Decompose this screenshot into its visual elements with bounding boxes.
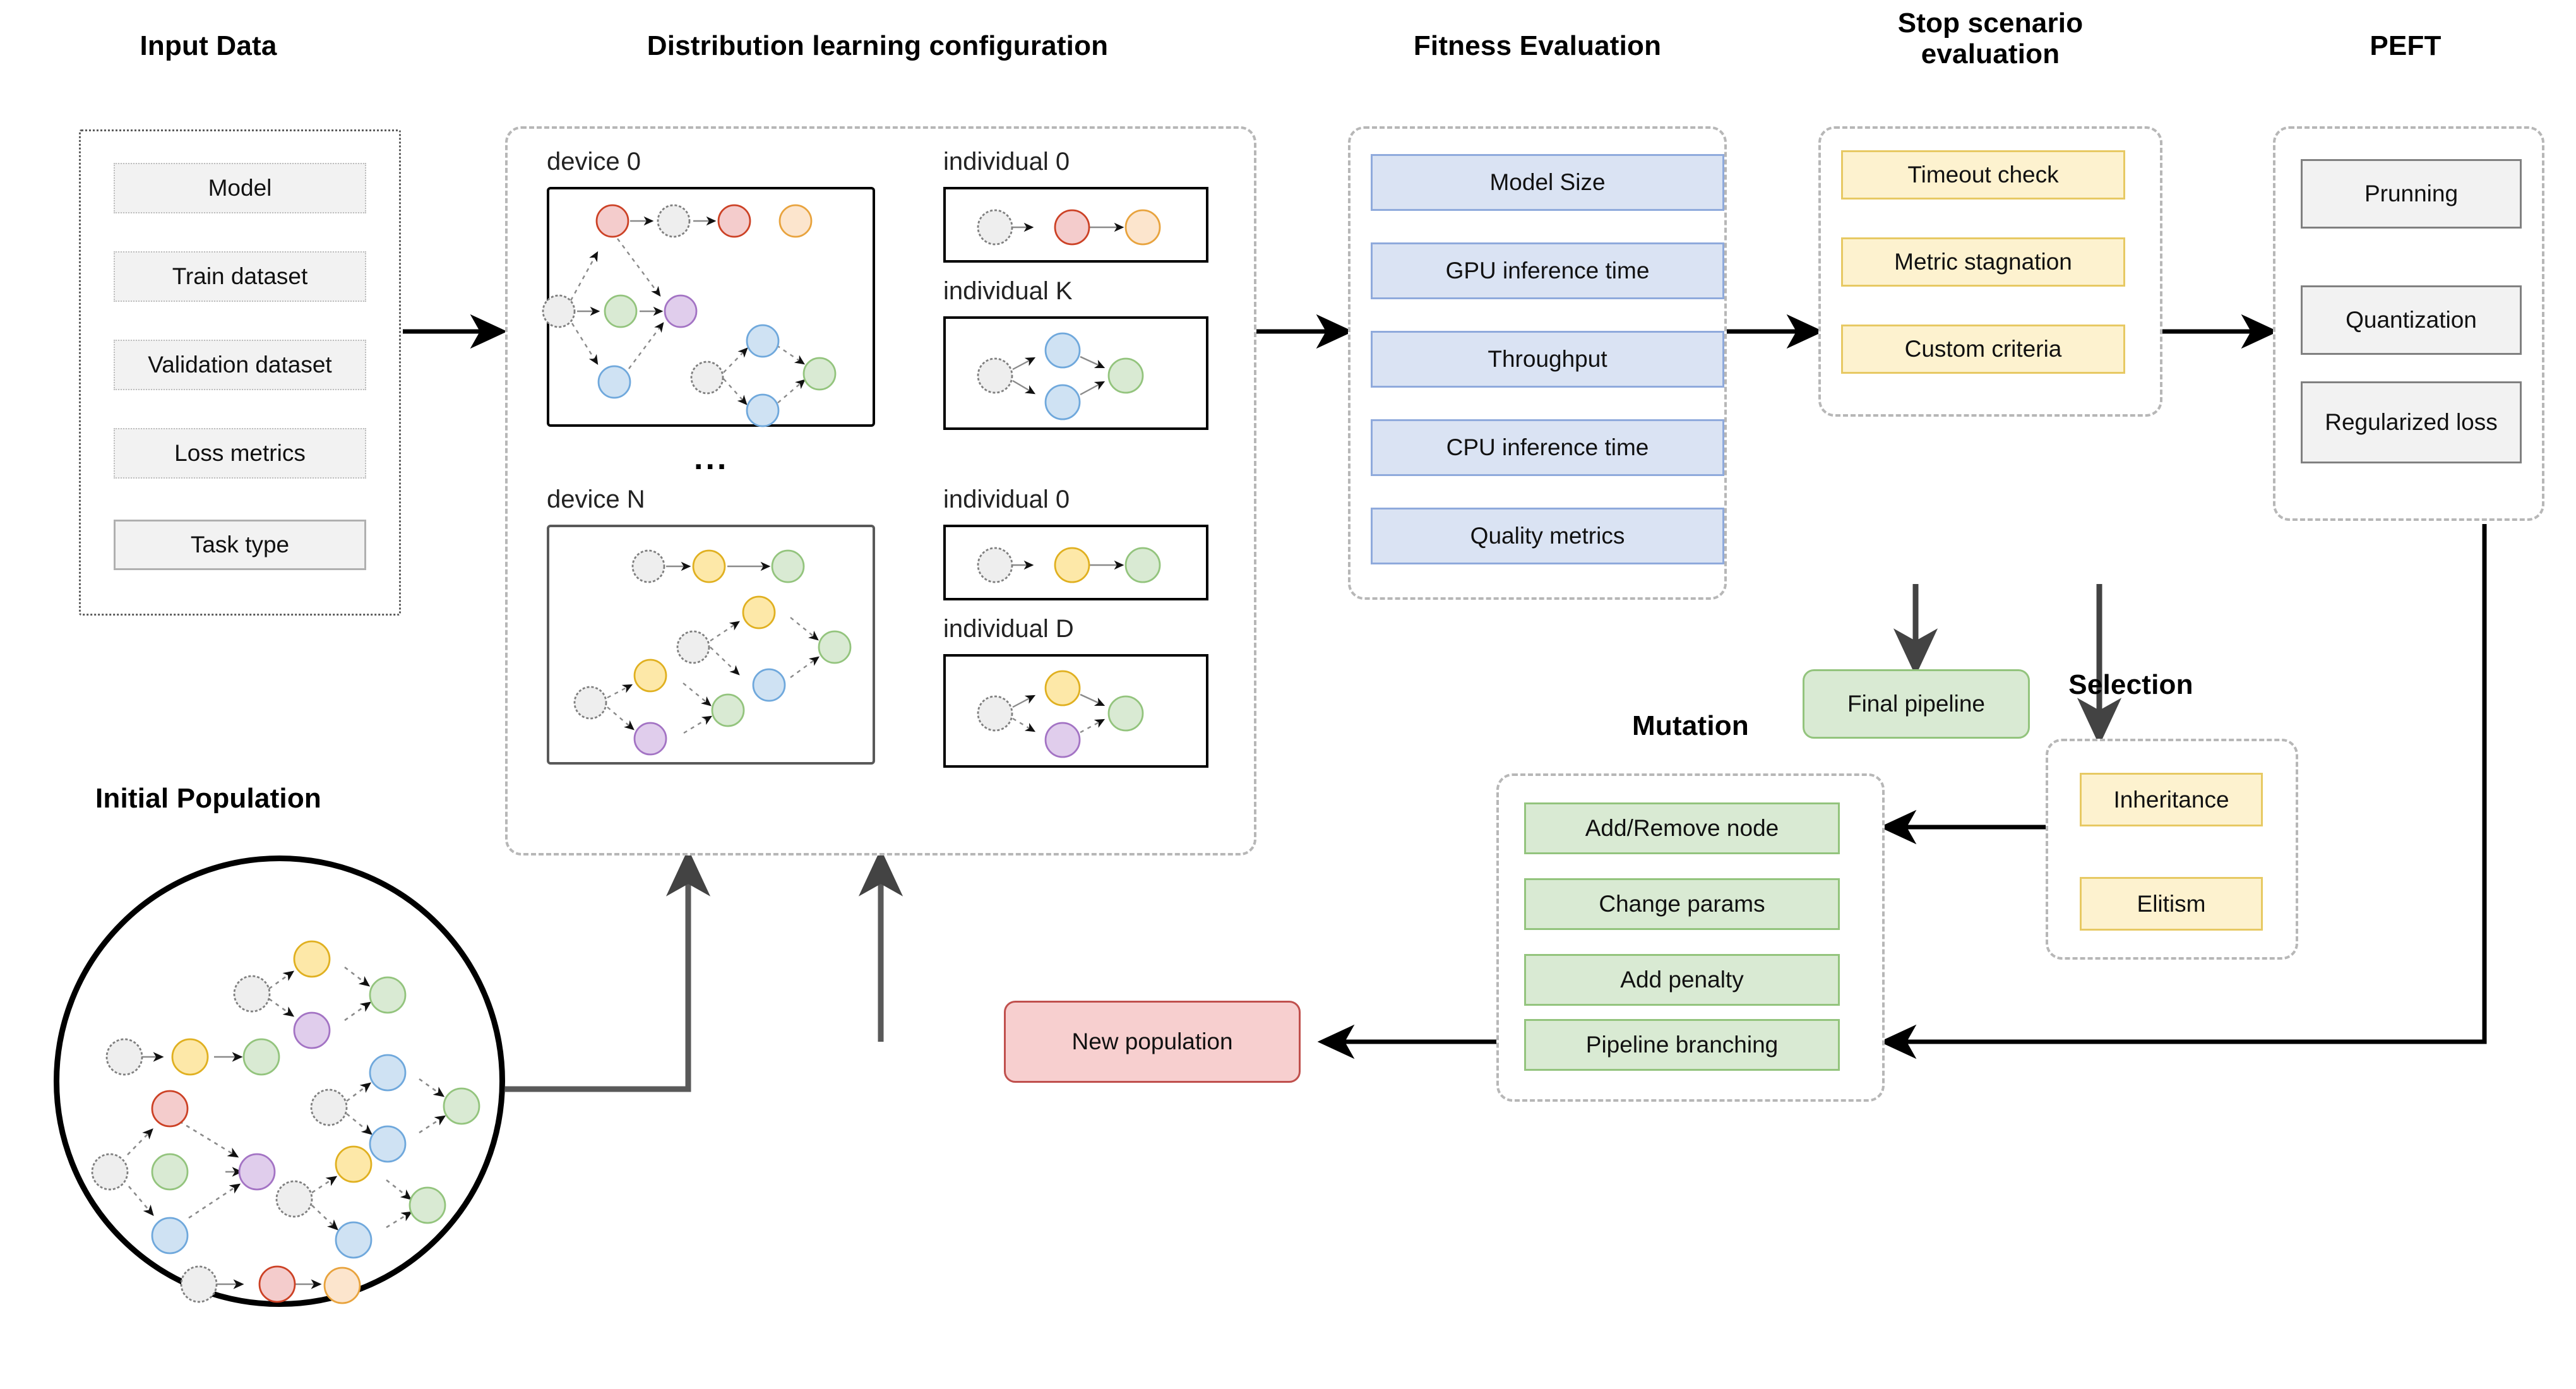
individual-0-graph	[946, 189, 1211, 265]
heading-stop-scenario: Stop scenario evaluation	[1818, 8, 2162, 70]
selection-item-inheritance[interactable]: Inheritance	[2080, 773, 2263, 826]
heading-mutation: Mutation	[1496, 710, 1885, 741]
device-0-graph	[549, 189, 878, 429]
mutation-item-change-params[interactable]: Change params	[1524, 878, 1840, 930]
stop-scenario-group: Timeout check Metric stagnation Custom c…	[1818, 126, 2162, 417]
heading-initial-population: Initial Population	[44, 783, 373, 814]
heading-input-data: Input Data	[76, 30, 341, 61]
individual-label-k: individual K	[943, 277, 1073, 306]
fitness-group: Model Size GPU inference time Throughput…	[1348, 126, 1727, 600]
individual-card-k[interactable]	[943, 316, 1208, 430]
selection-group: Inheritance Elitism	[2046, 739, 2298, 960]
mutation-item-pipeline-branching[interactable]: Pipeline branching	[1524, 1019, 1840, 1071]
fitness-item-cpu-inference-time[interactable]: CPU inference time	[1371, 419, 1724, 476]
individual-k-graph	[946, 319, 1211, 432]
heading-distribution: Distribution learning configuration	[524, 30, 1231, 61]
mutation-group: Add/Remove node Change params Add penalt…	[1496, 773, 1885, 1102]
input-item-model[interactable]: Model	[114, 163, 366, 213]
input-item-train-dataset[interactable]: Train dataset	[114, 251, 366, 302]
heading-selection: Selection	[2005, 669, 2257, 700]
mutation-item-add-remove-node[interactable]: Add/Remove node	[1524, 802, 1840, 854]
input-item-loss-metrics[interactable]: Loss metrics	[114, 428, 366, 479]
diagram-canvas: Input Data Model Train dataset Validatio…	[0, 0, 2576, 1389]
individual-label-0: individual 0	[943, 148, 1070, 176]
stop-item-timeout-check[interactable]: Timeout check	[1841, 150, 2125, 200]
initial-population-circle[interactable]	[54, 855, 505, 1307]
new-population-node[interactable]: New population	[1004, 1001, 1301, 1083]
device-label-0: device 0	[547, 148, 641, 176]
device-card-n[interactable]	[547, 525, 875, 765]
device-ellipsis: ...	[694, 439, 729, 477]
individual-d-graph	[946, 657, 1211, 770]
device-card-0[interactable]	[547, 187, 875, 427]
fitness-item-quality-metrics[interactable]: Quality metrics	[1371, 508, 1724, 564]
device-label-n: device N	[547, 486, 645, 514]
selection-item-elitism[interactable]: Elitism	[2080, 877, 2263, 931]
individual-0-bottom-graph	[946, 527, 1211, 603]
peft-item-regularized-loss[interactable]: Regularized loss	[2301, 381, 2522, 463]
fitness-item-model-size[interactable]: Model Size	[1371, 154, 1724, 211]
mutation-item-add-penalty[interactable]: Add penalty	[1524, 954, 1840, 1006]
individual-card-0-bottom[interactable]	[943, 525, 1208, 600]
stop-item-metric-stagnation[interactable]: Metric stagnation	[1841, 237, 2125, 287]
fitness-item-throughput[interactable]: Throughput	[1371, 331, 1724, 388]
heading-fitness: Fitness Evaluation	[1345, 30, 1730, 61]
heading-peft: PEFT	[2273, 30, 2538, 61]
device-n-graph	[549, 527, 878, 767]
input-item-task-type[interactable]: Task type	[114, 520, 366, 570]
distribution-group: device 0	[505, 126, 1256, 855]
individual-label-d: individual D	[943, 615, 1074, 643]
peft-item-prunning[interactable]: Prunning	[2301, 159, 2522, 229]
input-data-panel: Model Train dataset Validation dataset L…	[79, 129, 401, 616]
initial-population-graph	[59, 861, 511, 1313]
peft-group: Prunning Quantization Regularized loss	[2273, 126, 2544, 521]
peft-item-quantization[interactable]: Quantization	[2301, 285, 2522, 355]
stop-item-custom-criteria[interactable]: Custom criteria	[1841, 325, 2125, 374]
individual-card-0[interactable]	[943, 187, 1208, 263]
input-item-validation-dataset[interactable]: Validation dataset	[114, 340, 366, 390]
individual-card-d[interactable]	[943, 654, 1208, 768]
individual-label-0-bottom: individual 0	[943, 486, 1070, 514]
fitness-item-gpu-inference-time[interactable]: GPU inference time	[1371, 242, 1724, 299]
